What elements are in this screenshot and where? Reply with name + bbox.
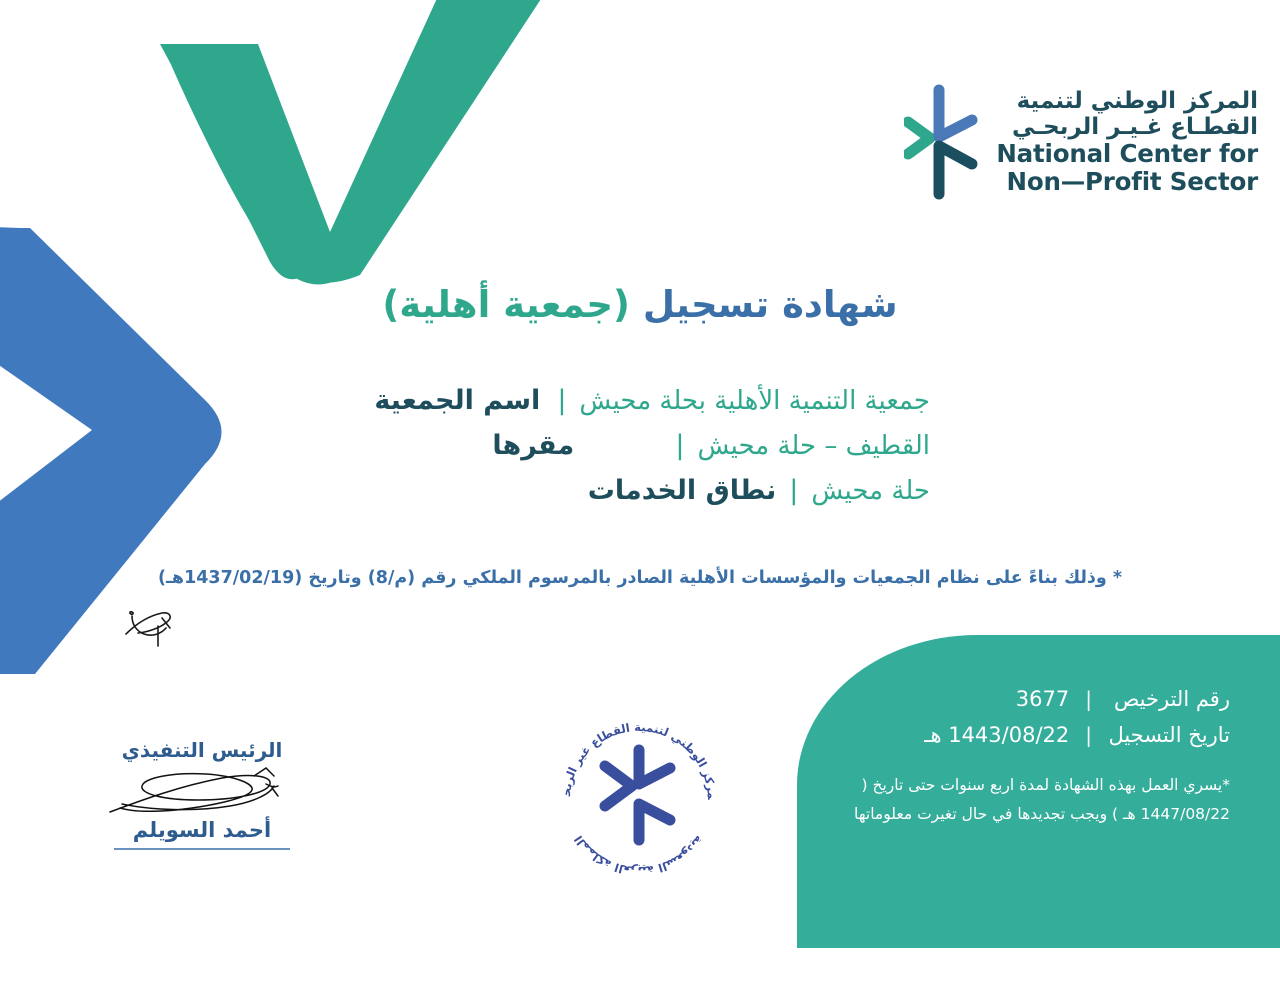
certificate-fields: جمعية التنمية الأهلية بحلة محيش | اسم ال… — [0, 385, 930, 520]
signature-rule — [114, 848, 290, 850]
info-value-registration-date: 1443/08/22 هـ — [924, 723, 1069, 747]
license-info-content: رقم الترخيص | 3677 تاريخ التسجيل | 1443/… — [797, 635, 1280, 948]
field-value-headquarters: القطيف – حلة محيش — [697, 431, 930, 461]
field-separator: | — [662, 430, 697, 461]
field-row-service-scope: حلة محيش | نطاق الخدمات — [0, 475, 930, 513]
triple-chevron-logo-icon — [904, 82, 982, 202]
certificate-page: المركز الوطني لتنمية القطـاع غـيـر الربح… — [0, 0, 1280, 1001]
info-value-license-number: 3677 — [1016, 687, 1069, 711]
signatory-role: الرئيس التنفيذي — [96, 738, 308, 762]
field-label-service-scope: نطاق الخدمات — [606, 475, 776, 506]
handwritten-signature-icon — [102, 764, 302, 822]
brand-logo-text: المركز الوطني لتنمية القطـاع غـيـر الربح… — [996, 88, 1258, 196]
brand-name-en-line2: Non—Profit Sector — [996, 168, 1258, 196]
field-separator: | — [544, 385, 579, 416]
info-label-license-number: رقم الترخيص — [1108, 687, 1230, 711]
legal-basis-note: * وذلك بناءً على نظام الجمعيات والمؤسسات… — [0, 568, 1280, 588]
brand-name-ar-line1: المركز الوطني لتنمية — [996, 88, 1258, 114]
official-round-seal-icon: المركز الوطني لتنمية القطاع غير الربحي ا… — [548, 706, 730, 882]
validity-note: *يسري العمل بهذه الشهادة لمدة اربع سنوات… — [853, 771, 1230, 828]
brand-name-ar-line2: القطـاع غـيـر الربحـي — [996, 114, 1258, 140]
page-title-secondary: (جمعية أهلية) — [382, 283, 630, 326]
field-row-headquarters: القطيف – حلة محيش | مقرها — [0, 430, 930, 468]
field-separator: | — [776, 475, 811, 506]
info-separator: | — [1069, 723, 1108, 747]
info-label-registration-date: تاريخ التسجيل — [1108, 723, 1230, 747]
info-row-registration-date: تاريخ التسجيل | 1443/08/22 هـ — [853, 723, 1230, 747]
field-row-association-name: جمعية التنمية الأهلية بحلة محيش | اسم ال… — [0, 385, 930, 423]
page-title: شهادة تسجيل (جمعية أهلية) — [0, 283, 1280, 326]
field-value-service-scope: حلة محيش — [811, 476, 930, 506]
seal-center-mark-icon — [605, 750, 670, 840]
signature-block: الرئيس التنفيذي أحمد السويلم — [96, 738, 308, 850]
brand-logo: المركز الوطني لتنمية القطـاع غـيـر الربح… — [904, 82, 1258, 202]
field-label-headquarters: مقرها — [492, 430, 662, 461]
page-title-primary: شهادة تسجيل — [643, 283, 898, 326]
info-row-license-number: رقم الترخيص | 3677 — [853, 687, 1230, 711]
license-info-panel: رقم الترخيص | 3677 تاريخ التسجيل | 1443/… — [797, 635, 1280, 948]
green-checkmark-shape-icon — [160, 0, 560, 284]
field-value-association-name: جمعية التنمية الأهلية بحلة محيش — [579, 386, 930, 416]
handwritten-initial-icon — [118, 604, 188, 649]
signatory-name: أحمد السويلم — [96, 818, 308, 842]
brand-name-en-line1: National Center for — [996, 140, 1258, 168]
field-label-association-name: اسم الجمعية — [374, 385, 544, 416]
info-separator: | — [1069, 687, 1108, 711]
